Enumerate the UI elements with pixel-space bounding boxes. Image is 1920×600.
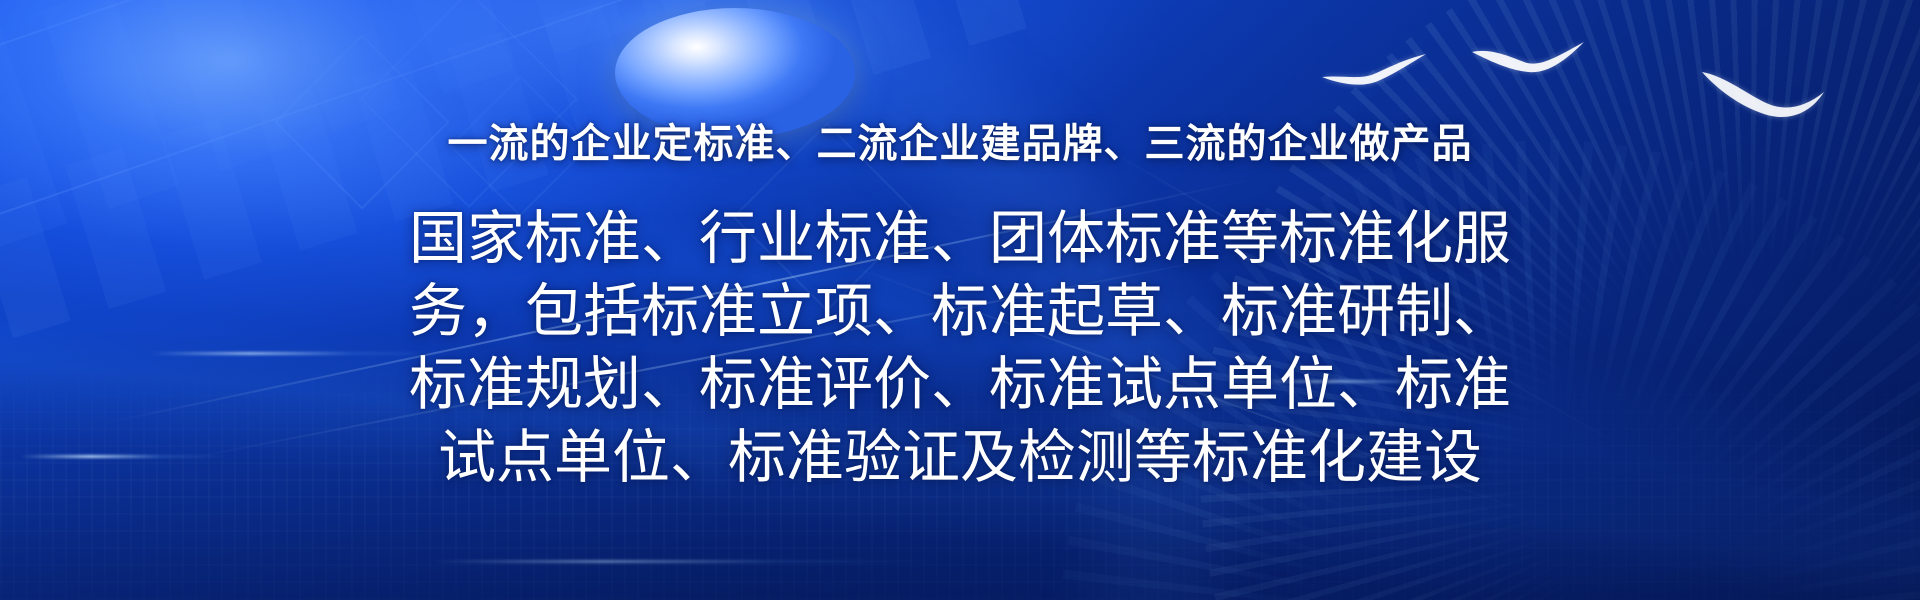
banner-body-line: 务，包括标准立项、标准起草、标准研制、 [320, 275, 1600, 348]
banner-body-line: 试点单位、标准验证及检测等标准化建设 [320, 421, 1600, 494]
banner-text-block: 一流的企业定标准、二流企业建品牌、三流的企业做产品 国家标准、行业标准、团体标准… [0, 0, 1920, 494]
promo-banner: 一流的企业定标准、二流企业建品牌、三流的企业做产品 国家标准、行业标准、团体标准… [0, 0, 1920, 600]
banner-headline: 一流的企业定标准、二流企业建品牌、三流的企业做产品 [0, 0, 1920, 166]
banner-body-text: 国家标准、行业标准、团体标准等标准化服 务，包括标准立项、标准起草、标准研制、 … [320, 166, 1600, 494]
banner-body-line: 国家标准、行业标准、团体标准等标准化服 [320, 202, 1600, 275]
banner-body-line: 标准规划、标准评价、标准试点单位、标准 [320, 348, 1600, 421]
light-streak [430, 560, 950, 563]
